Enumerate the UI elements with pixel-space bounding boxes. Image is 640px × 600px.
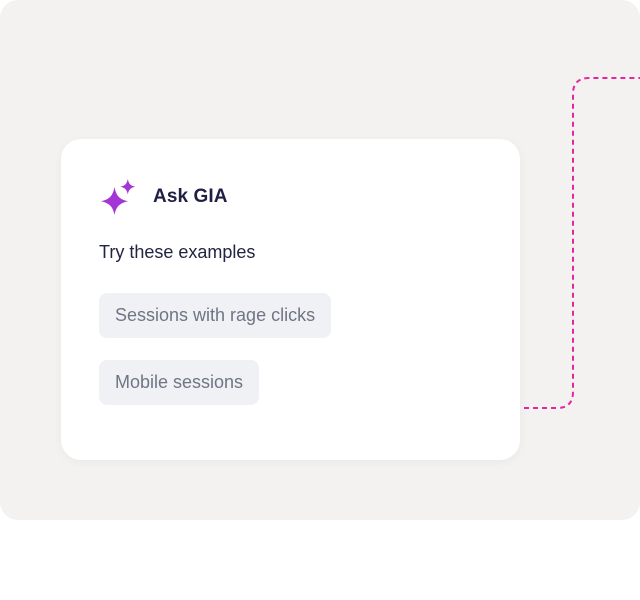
page-title: Ask GIA bbox=[153, 186, 228, 208]
ask-gia-card: Ask GIA Try these examples Sessions with… bbox=[61, 139, 520, 460]
sparkle-icon bbox=[99, 178, 139, 216]
examples-heading: Try these examples bbox=[99, 242, 255, 263]
screen-root: Ask GIA Try these examples Sessions with… bbox=[0, 0, 640, 600]
card-header: Ask GIA bbox=[99, 178, 228, 216]
example-chip-sessions-with-rage-clicks[interactable]: Sessions with rage clicks bbox=[99, 293, 331, 338]
example-chip-list: Sessions with rage clicks Mobile session… bbox=[99, 293, 331, 405]
example-chip-mobile-sessions[interactable]: Mobile sessions bbox=[99, 360, 259, 405]
